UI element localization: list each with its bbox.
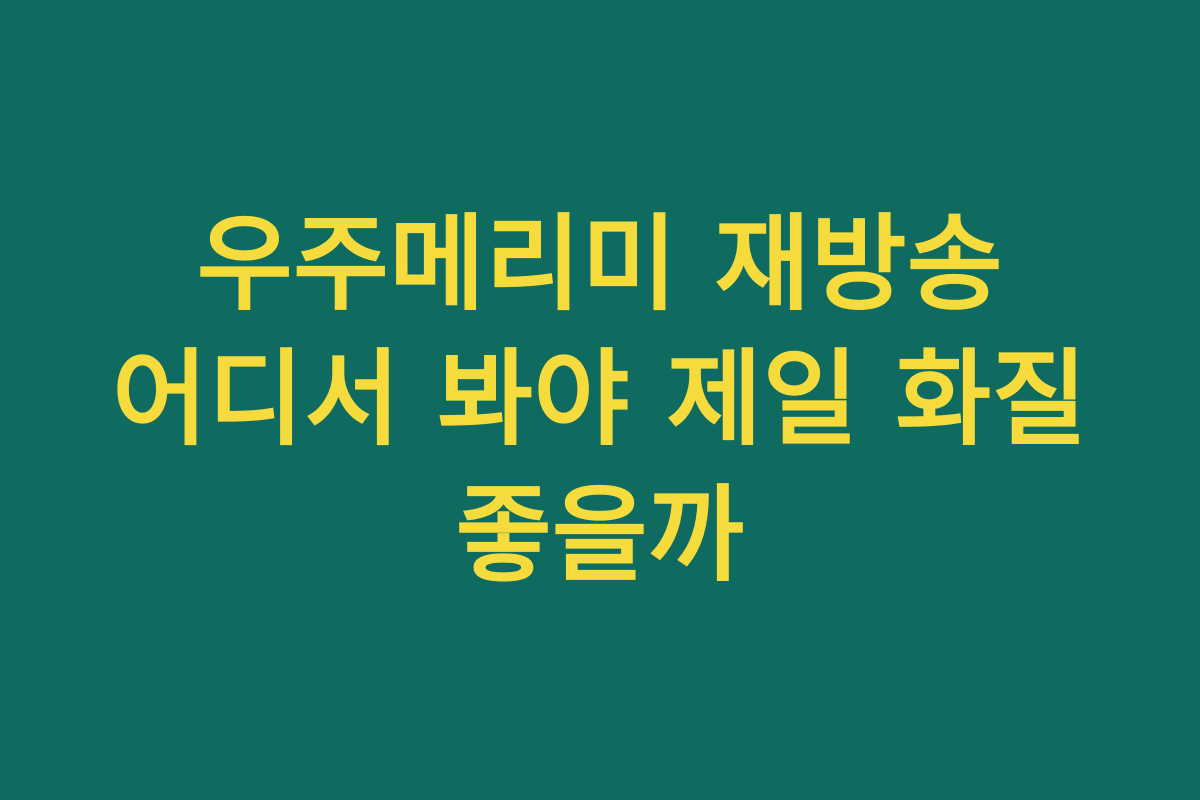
image-canvas: 우주메리미 재방송 어디서 봐야 제일 화질 좋을까 xyxy=(0,0,1200,800)
headline-text: 우주메리미 재방송 어디서 봐야 제일 화질 좋을까 xyxy=(100,197,1100,603)
headline-block: 우주메리미 재방송 어디서 봐야 제일 화질 좋을까 xyxy=(100,197,1100,603)
